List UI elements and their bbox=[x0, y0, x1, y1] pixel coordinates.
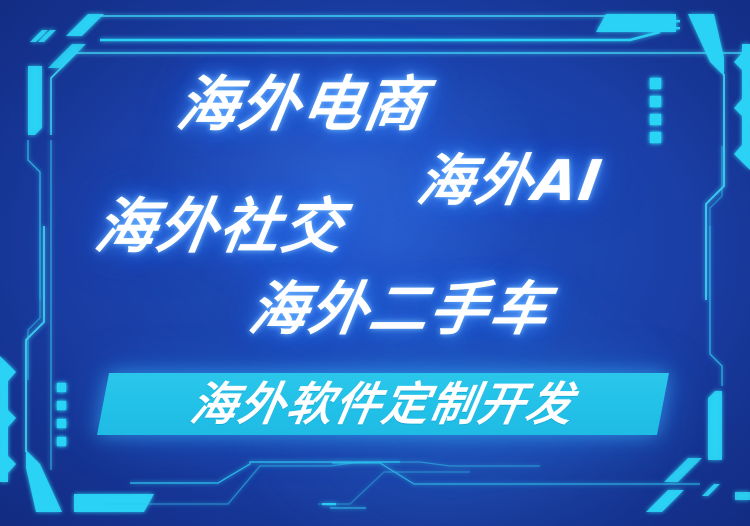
keyword-overseas-social: 海外社交 bbox=[91, 197, 349, 257]
poster-canvas: 海外电商 海外AI 海外社交 海外二手车 海外软件定制开发 bbox=[0, 0, 750, 526]
keyword-overseas-ecommerce: 海外电商 bbox=[173, 75, 431, 135]
highlight-banner-label: 海外软件定制开发 bbox=[129, 379, 638, 429]
keyword-overseas-used-car: 海外二手车 bbox=[245, 280, 554, 338]
keyword-overseas-ai: 海外AI bbox=[414, 154, 607, 210]
keyword-stack: 海外电商 海外AI 海外社交 海外二手车 bbox=[0, 0, 750, 526]
